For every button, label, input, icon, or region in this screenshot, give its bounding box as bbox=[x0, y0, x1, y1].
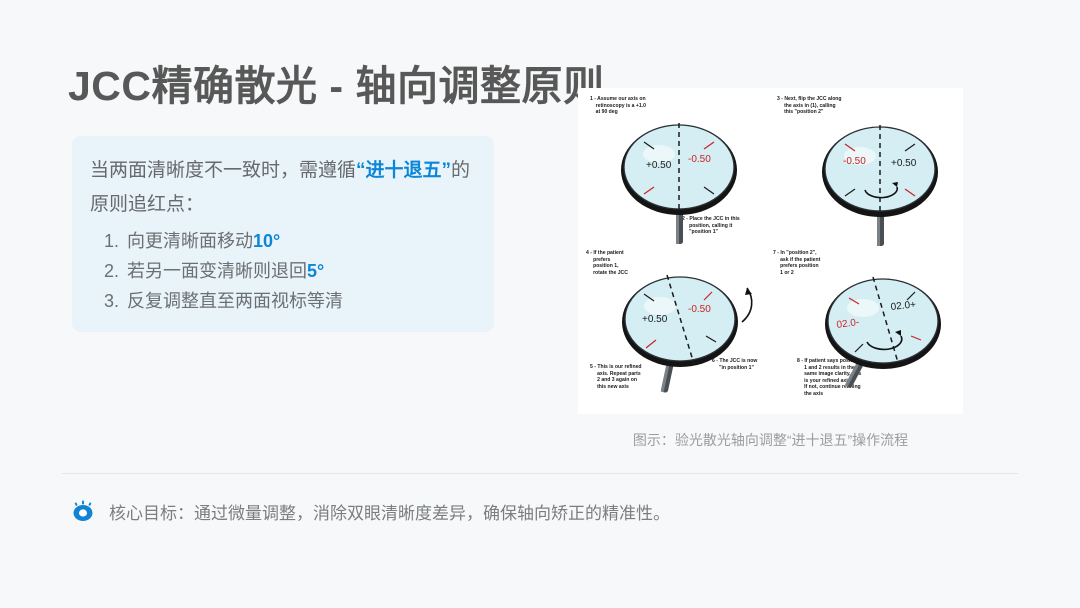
principle-lead-highlight: “进十退五” bbox=[356, 160, 451, 181]
jcc-lens-svg: +0.50 -0.50 bbox=[612, 264, 752, 400]
eye-target-tick-top bbox=[82, 501, 84, 505]
jcc-procedure-figure: 1 - Assume our axis on retinoscopy is a … bbox=[578, 88, 963, 414]
principle-step-list: 向更清晰面移动10° 若另一面变清晰则退回5° 反复调整直至两面视标等清 bbox=[124, 226, 480, 316]
list-item: 反复调整直至两面视标等清 bbox=[124, 286, 480, 316]
step-text: 反复调整直至两面视标等清 bbox=[127, 291, 343, 311]
lens-handle-highlight bbox=[877, 212, 880, 246]
principle-lead: 当两面清晰度不一致时，需遵循“进十退五”的原则追红点： bbox=[90, 154, 480, 222]
rotate-arrow-icon bbox=[736, 284, 758, 326]
eye-target-icon bbox=[70, 498, 96, 524]
lens-glare bbox=[847, 299, 879, 317]
lens-glare bbox=[644, 297, 676, 315]
figure-note: 3 - Next, flip the JCC along the axis in… bbox=[777, 96, 842, 116]
page-title: JCC精确散光 - 轴向调整原则 bbox=[68, 52, 604, 112]
figure-panel-7: 7 - In "position 2", ask if the patient … bbox=[771, 246, 963, 414]
lens-power-left: +0.50 bbox=[646, 160, 672, 171]
jcc-lens: +0.50 -0.50 bbox=[614, 114, 744, 246]
jcc-lens: 02.0- 02.0+ bbox=[815, 266, 955, 404]
figure-note: 1 - Assume our axis on retinoscopy is a … bbox=[590, 96, 646, 116]
jcc-lens-svg: 02.0- 02.0+ bbox=[815, 266, 955, 404]
figure-caption: 图示：验光散光轴向调整“进十退五”操作流程 bbox=[578, 430, 963, 450]
step-text: 向更清晰面移动 bbox=[127, 231, 253, 251]
jcc-lens: +0.50 -0.50 bbox=[612, 264, 752, 400]
jcc-lens-svg: -0.50 +0.50 bbox=[815, 116, 945, 248]
list-item: 若另一面变清晰则退回5° bbox=[124, 256, 480, 286]
footer-text: 核心目标：通过微量调整，消除双眼清晰度差异，确保轴向矫正的精准性。 bbox=[109, 499, 670, 524]
footer-note: 核心目标：通过微量调整，消除双眼清晰度差异，确保轴向矫正的精准性。 bbox=[70, 498, 670, 524]
footer-divider bbox=[62, 473, 1018, 474]
figure-panel-4: 4 - If the patient prefers position 1, r… bbox=[578, 246, 774, 414]
lens-power-right: -0.50 bbox=[688, 154, 711, 165]
eye-target-tick-right bbox=[88, 502, 91, 506]
figure-note: 7 - In "position 2", ask if the patient … bbox=[773, 250, 820, 276]
lens-power-left: -0.50 bbox=[843, 156, 866, 167]
figure-panel-1: 1 - Assume our axis on retinoscopy is a … bbox=[578, 88, 774, 248]
step-emphasis: 10° bbox=[253, 231, 280, 251]
eye-target-tick-left bbox=[74, 502, 77, 506]
step-emphasis: 5° bbox=[307, 261, 324, 281]
lens-power-right: +0.50 bbox=[891, 158, 917, 169]
lens-power-right: -0.50 bbox=[688, 304, 711, 315]
figure-panel-3: 3 - Next, flip the JCC along the axis in… bbox=[771, 88, 963, 248]
list-item: 向更清晰面移动10° bbox=[124, 226, 480, 256]
slide-root: JCC精确散光 - 轴向调整原则 当两面清晰度不一致时，需遵循“进十退五”的原则… bbox=[0, 0, 1080, 608]
step-text: 若另一面变清晰则退回 bbox=[127, 261, 307, 281]
principle-card: 当两面清晰度不一致时，需遵循“进十退五”的原则追红点： 向更清晰面移动10° 若… bbox=[72, 136, 494, 332]
jcc-lens: -0.50 +0.50 bbox=[815, 116, 945, 248]
principle-lead-part1: 当两面清晰度不一致时，需遵循 bbox=[90, 160, 356, 181]
principle-card-body: 当两面清晰度不一致时，需遵循“进十退五”的原则追红点： 向更清晰面移动10° 若… bbox=[90, 154, 480, 316]
eye-target-inner bbox=[79, 509, 87, 516]
lens-handle-highlight bbox=[676, 210, 679, 244]
jcc-lens-svg: +0.50 -0.50 bbox=[614, 114, 744, 246]
lens-power-left: +0.50 bbox=[642, 314, 668, 325]
